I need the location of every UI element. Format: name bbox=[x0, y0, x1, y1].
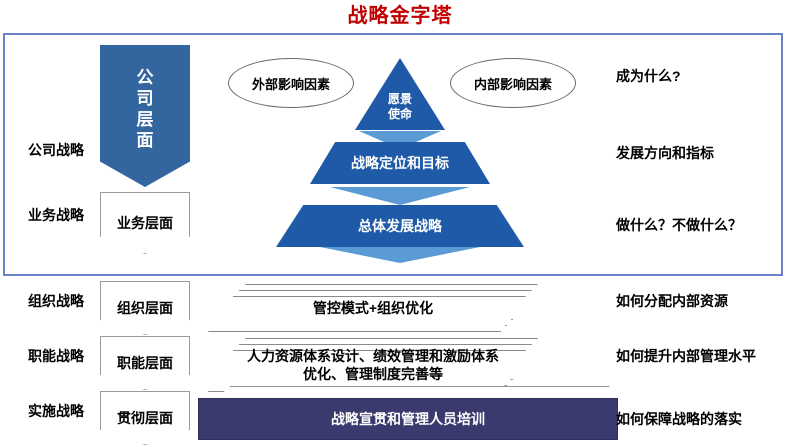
ellipse-internal-factors-label: 内部影响因素 bbox=[474, 74, 552, 93]
stack-hr-system-line-1: 人力资源体系设计、绩效管理和激励体系 bbox=[247, 348, 499, 364]
chevron-corporate-level-label: 公司层面 bbox=[135, 67, 155, 151]
left-label-org-strategy: 组织战略 bbox=[10, 293, 102, 309]
chevron-function-level-label: 职能层面 bbox=[117, 355, 173, 371]
pyramid-level-strategic-positioning[interactable]: 战略定位和目标 bbox=[310, 142, 490, 184]
chevron-corporate-level[interactable]: 公司层面 bbox=[100, 45, 190, 187]
ellipse-internal-factors[interactable]: 内部影响因素 bbox=[450, 58, 576, 108]
left-label-corporate-strategy: 公司战略 bbox=[10, 142, 102, 158]
page-title: 战略金字塔 bbox=[0, 4, 800, 28]
right-label-allocate-resources: 如何分配内部资源 bbox=[616, 293, 800, 309]
right-label-do-or-not: 做什么？不做什么？ bbox=[616, 217, 800, 233]
right-label-become-what: 成为什么? bbox=[616, 68, 800, 84]
stack-hr-system-label: 人力资源体系设计、绩效管理和激励体系 优化、管理制度完善等 bbox=[208, 347, 538, 383]
bottom-bar-strategy-training-label: 战略宣贯和管理人员培训 bbox=[331, 409, 485, 429]
stack-control-model[interactable]: 管控模式+组织优化 bbox=[208, 284, 538, 332]
left-label-implementation-strategy: 实施战略 bbox=[10, 403, 102, 419]
pyramid-level-overall-development-label: 总体发展战略 bbox=[358, 216, 442, 236]
stack-hr-system-line-2: 优化、管理制度完善等 bbox=[303, 366, 443, 382]
right-label-improve-management: 如何提升内部管理水平 bbox=[616, 348, 800, 364]
chevron-org-level-label: 组织层面 bbox=[117, 300, 173, 316]
chevron-implementation-level[interactable]: 贯彻层面 bbox=[100, 391, 190, 445]
pyramid-level-overall-development[interactable]: 总体发展战略 bbox=[276, 205, 524, 247]
stack-control-model-label: 管控模式+组织优化 bbox=[208, 299, 538, 317]
pyramid-level-strategic-positioning-label: 战略定位和目标 bbox=[351, 153, 449, 173]
chevron-implementation-level-label: 贯彻层面 bbox=[117, 410, 173, 426]
chevron-business-level-label: 业务层面 bbox=[117, 215, 173, 231]
ellipse-external-factors-label: 外部影响因素 bbox=[252, 74, 330, 93]
pyramid-apex-label: 愿景使命 bbox=[380, 92, 420, 122]
chevron-function-level[interactable]: 职能层面 bbox=[100, 336, 190, 390]
apex-line-2: 使命 bbox=[388, 107, 412, 121]
apex-line-1: 愿景 bbox=[388, 92, 412, 106]
right-label-direction-indicators: 发展方向和指标 bbox=[616, 145, 800, 161]
stack-hr-system[interactable]: 人力资源体系设计、绩效管理和激励体系 优化、管理制度完善等 bbox=[208, 338, 538, 392]
right-label-ensure-implementation: 如何保障战略的落实 bbox=[616, 411, 800, 427]
stack-control-model-line-1: 管控模式+组织优化 bbox=[313, 300, 433, 316]
left-label-function-strategy: 职能战略 bbox=[10, 348, 102, 364]
left-label-business-strategy: 业务战略 bbox=[10, 207, 102, 223]
chevron-business-level[interactable]: 业务层面 bbox=[100, 192, 190, 254]
ellipse-external-factors[interactable]: 外部影响因素 bbox=[228, 58, 354, 108]
bottom-bar-strategy-training[interactable]: 战略宣贯和管理人员培训 bbox=[198, 398, 618, 440]
chevron-org-level[interactable]: 组织层面 bbox=[100, 281, 190, 335]
